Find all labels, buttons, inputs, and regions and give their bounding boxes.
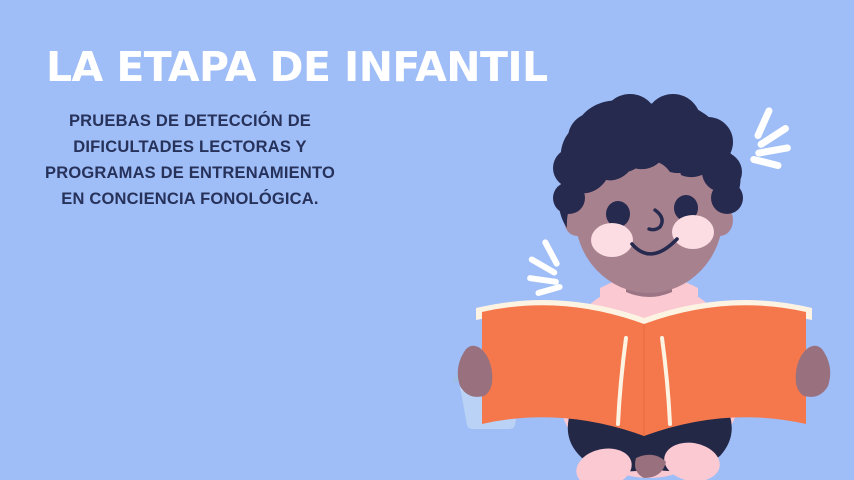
slide-canvas: LA ETAPA DE INFANTIL PRUEBAS DE DETECCIÓ…	[0, 0, 854, 480]
sparkle-left-icon	[527, 238, 564, 296]
open-book	[476, 300, 812, 436]
slide-subtitle: PRUEBAS DE DETECCIÓN DE DIFICULTADES LEC…	[45, 108, 335, 212]
boy-reading-illustration	[430, 80, 854, 480]
sparkle-top-right-icon	[750, 106, 792, 170]
